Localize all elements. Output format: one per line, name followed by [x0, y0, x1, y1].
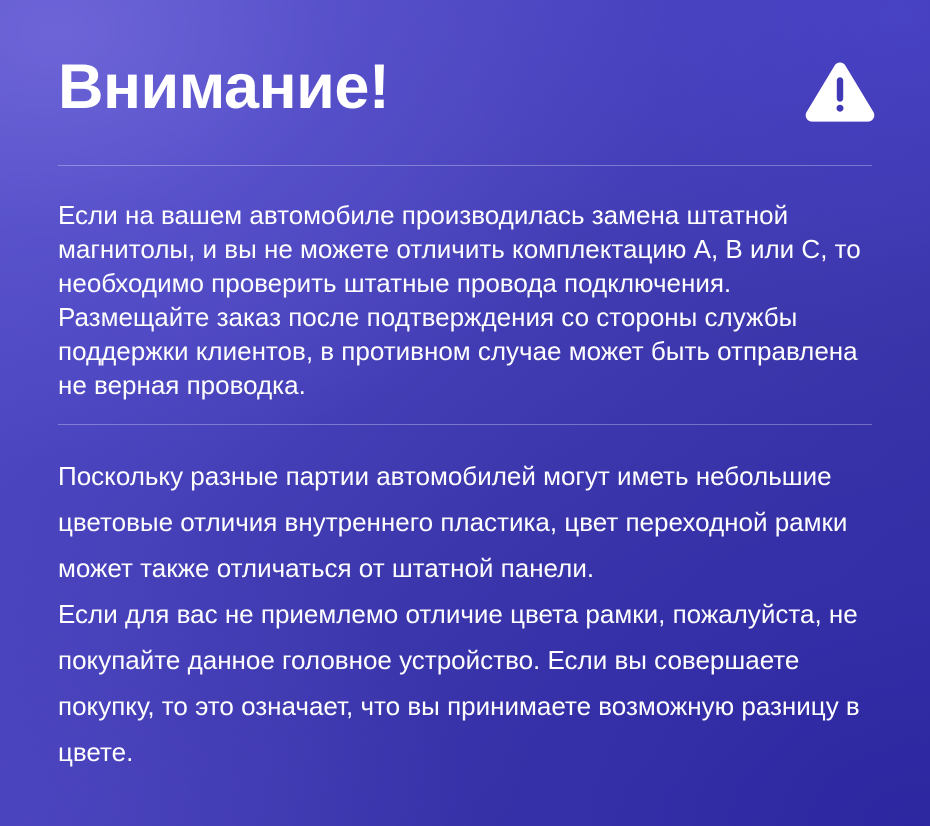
paragraph-purchase-acceptance: Если для вас не приемлемо отличие цвета …	[58, 591, 872, 775]
section-radio-replacement-warning: Если на вашем автомобиле производилась з…	[58, 166, 872, 424]
banner-header: Внимание!	[58, 0, 872, 165]
page-title: Внимание!	[58, 56, 389, 119]
banner-content: Внимание! Если на вашем автомобиле произ…	[0, 0, 930, 785]
paragraph-color-variance: Поскольку разные партии автомобилей могу…	[58, 453, 872, 591]
section-color-difference-warning: Поскольку разные партии автомобилей могу…	[58, 425, 872, 785]
warning-triangle-icon	[804, 62, 876, 122]
paragraph-radio-replacement: Если на вашем автомобиле производилась з…	[58, 198, 868, 402]
warning-banner: Внимание! Если на вашем автомобиле произ…	[0, 0, 930, 826]
